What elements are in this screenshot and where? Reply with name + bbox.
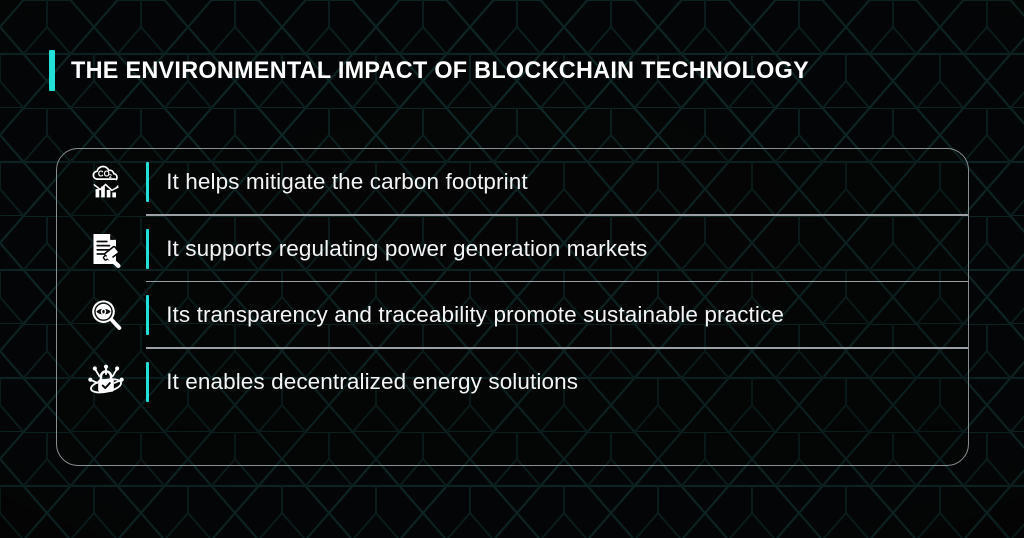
co2-cloud-declining-chart-icon: CO 2 (83, 159, 129, 205)
list-item-label: Its transparency and traceability promot… (166, 304, 784, 327)
benefit-accent-divider (146, 362, 149, 402)
benefit-accent-divider (146, 162, 149, 202)
svg-text:2: 2 (109, 174, 112, 180)
svg-text:CO: CO (98, 170, 110, 179)
page-title-block: THE ENVIRONMENTAL IMPACT OF BLOCKCHAIN T… (49, 50, 844, 91)
page-title: THE ENVIRONMENTAL IMPACT OF BLOCKCHAIN T… (71, 57, 809, 85)
document-gavel-regulation-icon (83, 226, 129, 272)
list-item[interactable]: It supports regulating power generation … (57, 216, 968, 283)
network-lock-decentralized-icon (83, 359, 129, 405)
list-item-label: It helps mitigate the carbon footprint (166, 171, 528, 194)
list-item[interactable]: Its transparency and traceability promot… (57, 282, 968, 349)
benefits-list: CO 2 It helps mitigate the carbon footpr… (57, 149, 968, 415)
list-item-label: It supports regulating power generation … (166, 238, 647, 261)
title-accent-bar (49, 50, 55, 91)
list-item[interactable]: CO 2 It helps mitigate the carbon footpr… (57, 149, 968, 216)
slide-canvas: THE ENVIRONMENTAL IMPACT OF BLOCKCHAIN T… (0, 0, 1024, 538)
list-item-label: It enables decentralized energy solution… (166, 371, 578, 394)
magnifier-eye-transparency-icon (83, 292, 129, 338)
benefits-card: CO 2 It helps mitigate the carbon footpr… (56, 148, 969, 466)
benefit-accent-divider (146, 295, 149, 335)
list-item[interactable]: It enables decentralized energy solution… (57, 349, 968, 416)
benefit-accent-divider (146, 229, 149, 269)
